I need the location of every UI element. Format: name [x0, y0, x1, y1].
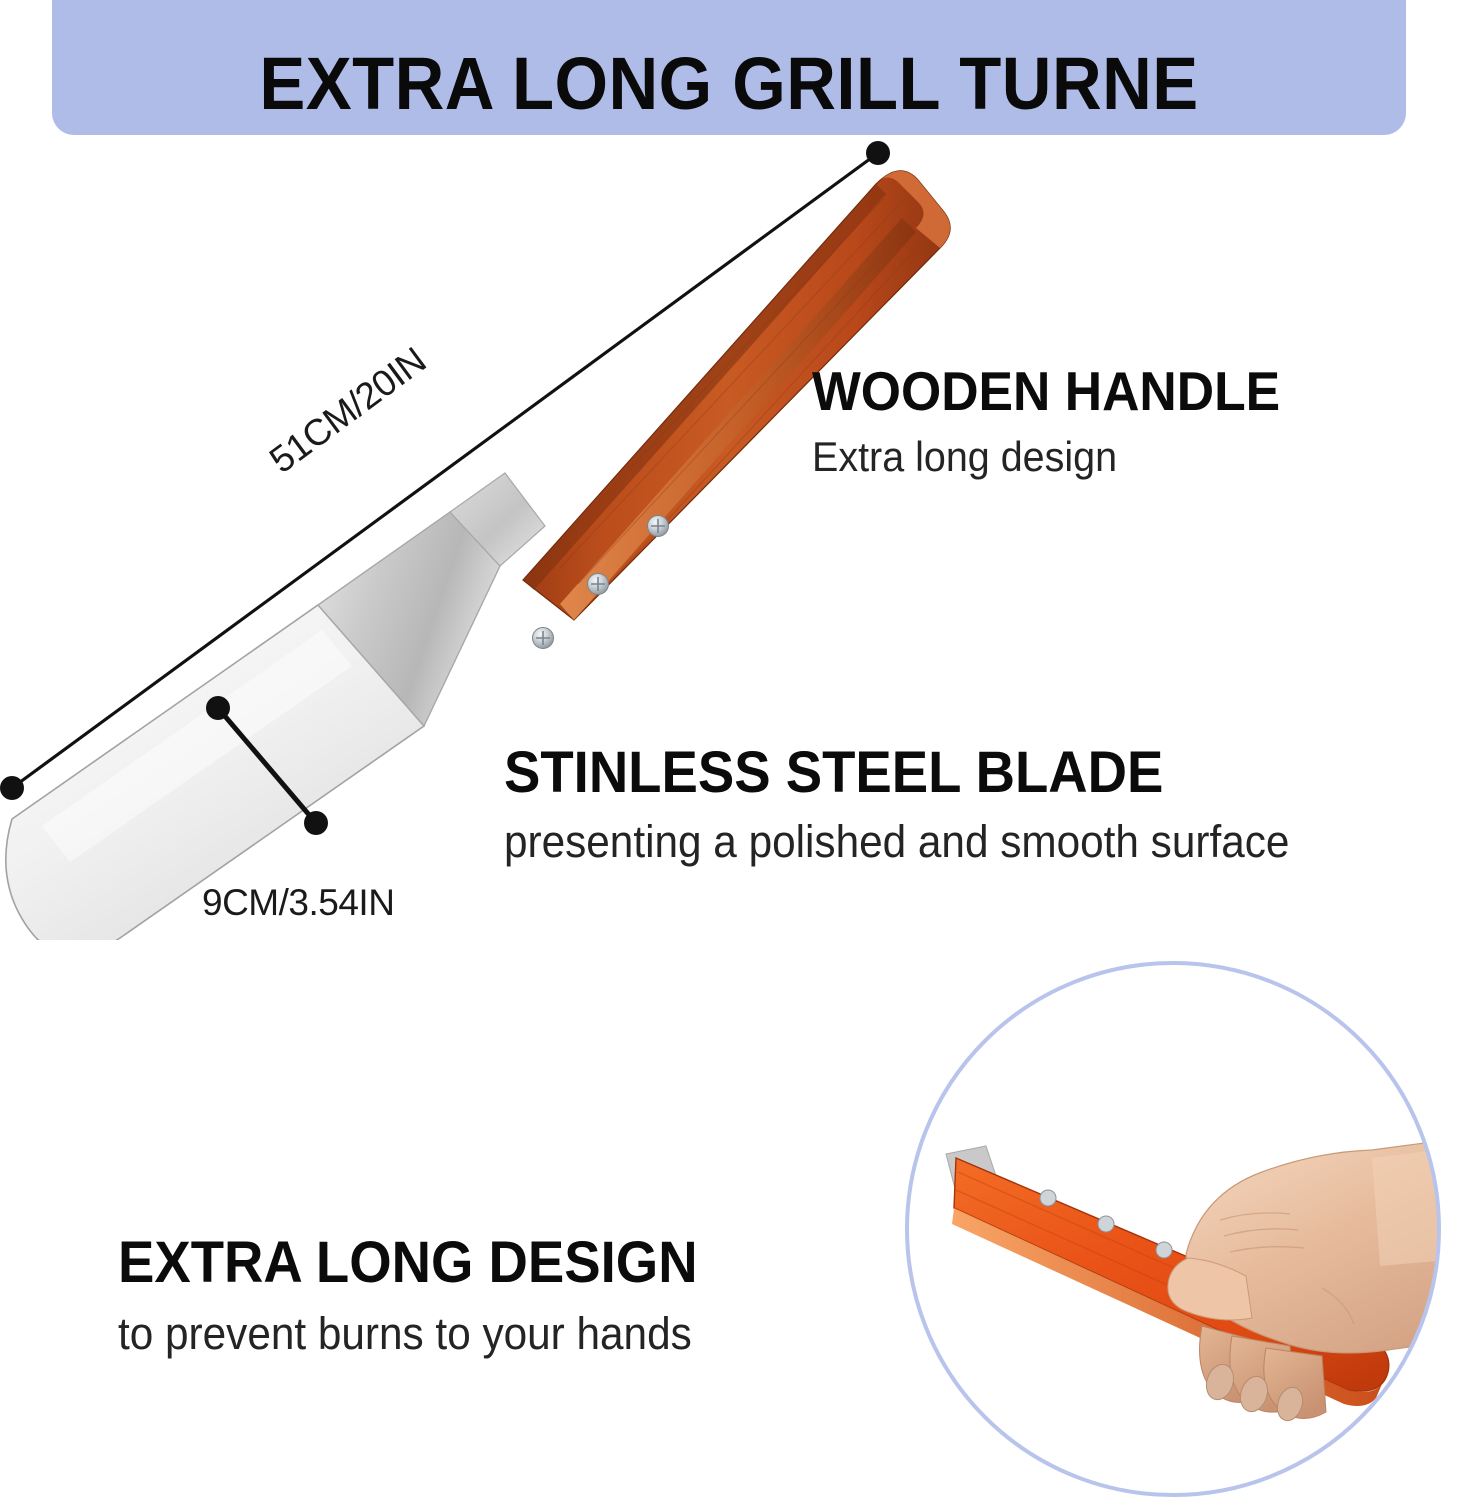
header-banner: EXTRA LONG GRILL TURNE — [52, 0, 1406, 135]
callout-wooden-handle: WOODEN HANDLE Extra long design — [812, 362, 1310, 482]
callout-extra-long-design-title: EXTRA LONG DESIGN — [118, 1232, 698, 1294]
callout-steel-blade-title: STINLESS STEEL BLADE — [504, 742, 1289, 804]
inset-photo-content — [902, 958, 1444, 1500]
infographic-page: EXTRA LONG GRILL TURNE — [0, 0, 1460, 1500]
callout-wooden-handle-subtitle: Extra long design — [812, 432, 1280, 482]
hand-holding-handle-inset — [902, 958, 1444, 1500]
page-title: EXTRA LONG GRILL TURNE — [259, 47, 1198, 121]
dimension-line-length — [0, 141, 890, 800]
callout-extra-long-design: EXTRA LONG DESIGN to prevent burns to yo… — [118, 1232, 735, 1360]
callout-wooden-handle-title: WOODEN HANDLE — [812, 362, 1280, 420]
callout-steel-blade-subtitle: presenting a polished and smooth surface — [504, 816, 1289, 868]
spatula-blade — [6, 473, 545, 940]
callout-steel-blade: STINLESS STEEL BLADE presenting a polish… — [504, 742, 1340, 868]
dimension-label-width: 9CM/3.54IN — [202, 882, 394, 924]
callout-extra-long-design-subtitle: to prevent burns to your hands — [118, 1308, 698, 1360]
